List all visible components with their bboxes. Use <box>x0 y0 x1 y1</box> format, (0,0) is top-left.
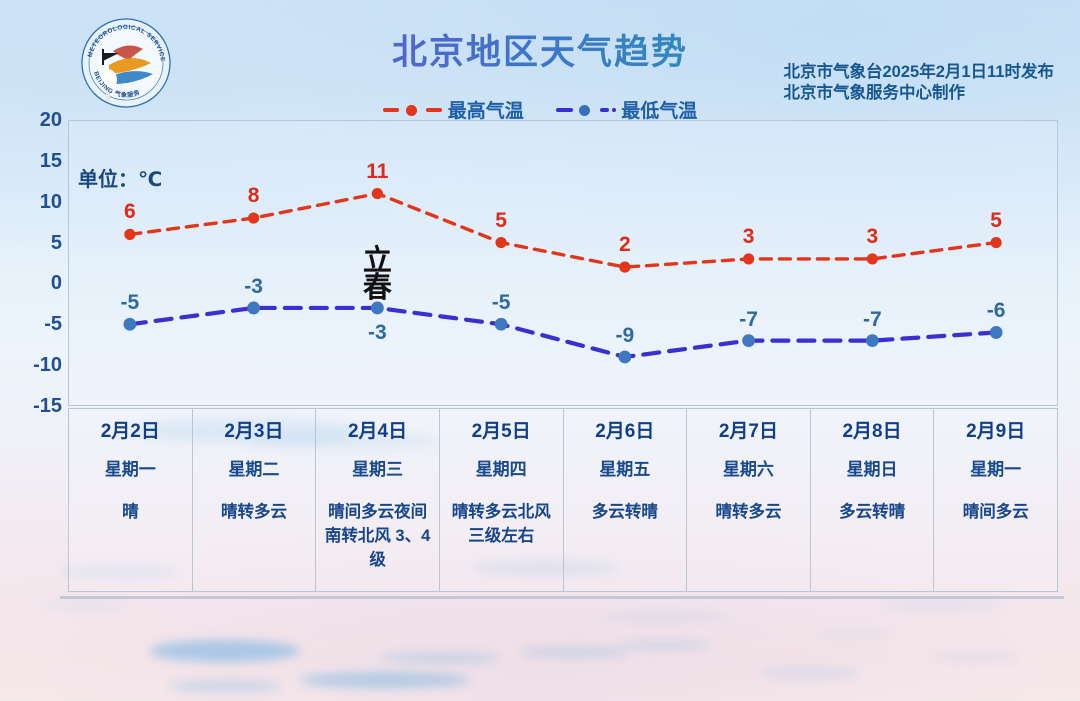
y-axis: 20151050-5-10-15 <box>8 113 62 413</box>
forecast-weather-text: 晴间多云夜间南转北风 3、4 级 <box>316 500 439 572</box>
forecast-weekday: 星期五 <box>599 461 650 478</box>
forecast-weekday: 星期一 <box>105 461 156 478</box>
y-axis-tick: -15 <box>8 396 62 416</box>
y-axis-tick: 15 <box>8 151 62 171</box>
legend-marker-min-temp <box>556 104 614 116</box>
forecast-day-column: 2月4日星期三晴间多云夜间南转北风 3、4 级 <box>316 409 440 591</box>
forecast-day-column: 2月6日星期五多云转晴 <box>564 409 688 591</box>
legend-item-max-temp: 最高气温 <box>383 96 524 123</box>
forecast-weather-text: 晴转多云 <box>216 500 292 524</box>
lichun-char-1: 立 <box>363 248 392 275</box>
forecast-weekday: 星期日 <box>847 461 898 478</box>
min-temp-point <box>495 318 508 331</box>
min-temp-value-label: -6 <box>987 300 1006 321</box>
forecast-weather-text: 晴转多云北风三级左右 <box>440 500 563 548</box>
y-axis-tick: 0 <box>8 273 62 293</box>
legend-label-min-temp: 最低气温 <box>621 96 697 123</box>
forecast-weekday: 星期四 <box>476 461 527 478</box>
chart-legend: 最高气温 最低气温 <box>0 96 1080 122</box>
forecast-day-column: 2月9日星期一晴间多云 <box>934 409 1057 591</box>
legend-label-max-temp: 最高气温 <box>448 96 524 123</box>
forecast-date: 2月3日 <box>224 422 283 441</box>
forecast-date: 2月7日 <box>719 422 778 441</box>
forecast-day-column: 2月2日星期一晴 <box>69 409 193 591</box>
forecast-weather-text: 多云转晴 <box>587 500 663 524</box>
legend-item-min-temp: 最低气温 <box>556 96 697 123</box>
max-temp-value-label: 3 <box>743 226 755 247</box>
y-axis-tick: -5 <box>8 314 62 334</box>
max-temp-point <box>372 188 383 199</box>
min-temp-value-label: -3 <box>244 276 263 297</box>
forecast-date: 2月9日 <box>966 422 1025 441</box>
forecast-day-column: 2月5日星期四晴转多云北风三级左右 <box>440 409 564 591</box>
lichun-annotation: 立 春 <box>363 248 392 301</box>
y-axis-tick: 10 <box>8 192 62 212</box>
forecast-weather-text: 多云转晴 <box>834 500 910 524</box>
max-temp-value-label: 5 <box>990 210 1002 231</box>
max-temp-point <box>743 253 754 264</box>
forecast-weekday: 星期三 <box>352 461 403 478</box>
forecast-weekday: 星期一 <box>970 461 1021 478</box>
forecast-weather-text: 晴 <box>117 500 144 524</box>
min-temp-point <box>618 351 631 364</box>
max-temp-value-label: 11 <box>366 161 388 182</box>
min-temp-value-label: -5 <box>492 292 511 313</box>
forecast-date: 2月2日 <box>101 422 160 441</box>
max-temp-point <box>248 212 259 223</box>
min-temp-point <box>742 334 755 347</box>
max-temp-value-label: 3 <box>867 226 879 247</box>
forecast-weather-text: 晴间多云 <box>958 500 1034 524</box>
forecast-date: 2月8日 <box>842 422 901 441</box>
min-temp-value-label: -5 <box>121 292 140 313</box>
forecast-day-column: 2月3日星期二晴转多云 <box>193 409 317 591</box>
min-temp-point <box>990 326 1003 339</box>
legend-marker-max-temp <box>383 104 441 116</box>
y-axis-tick: 20 <box>8 110 62 130</box>
publisher-line-1: 北京市气象台2025年2月1日11时发布 <box>783 62 1054 83</box>
forecast-date: 2月6日 <box>595 422 654 441</box>
min-temp-value-label: -3 <box>368 322 387 343</box>
y-axis-tick: 5 <box>8 233 62 253</box>
forecast-date: 2月5日 <box>472 422 531 441</box>
min-temp-value-label: -7 <box>739 309 758 330</box>
y-axis-tick: -10 <box>8 355 62 375</box>
temperature-line-chart <box>68 120 1058 406</box>
min-temp-value-label: -9 <box>616 325 635 346</box>
max-temp-value-label: 2 <box>619 234 631 255</box>
max-temp-point <box>124 229 135 240</box>
min-temp-point <box>247 302 260 315</box>
max-temp-point <box>496 237 507 248</box>
forecast-weekday: 星期二 <box>228 461 279 478</box>
forecast-weekday: 星期六 <box>723 461 774 478</box>
max-temp-value-label: 5 <box>495 210 507 231</box>
max-temp-value-label: 8 <box>248 185 260 206</box>
max-temp-point <box>619 261 630 272</box>
min-temp-point <box>866 334 879 347</box>
lichun-char-2: 春 <box>363 275 392 302</box>
max-temp-point <box>867 253 878 264</box>
forecast-date: 2月4日 <box>348 422 407 441</box>
forecast-weather-text: 晴转多云 <box>710 500 786 524</box>
min-temp-point <box>123 318 136 331</box>
forecast-day-column: 2月8日星期日多云转晴 <box>811 409 935 591</box>
forecast-day-column: 2月7日星期六晴转多云 <box>687 409 811 591</box>
max-temp-point <box>991 237 1002 248</box>
bottom-rule <box>60 596 1064 599</box>
forecast-day-table: 2月2日星期一晴2月3日星期二晴转多云2月4日星期三晴间多云夜间南转北风 3、4… <box>68 408 1058 592</box>
min-temp-value-label: -7 <box>863 309 882 330</box>
max-temp-value-label: 6 <box>124 201 136 222</box>
